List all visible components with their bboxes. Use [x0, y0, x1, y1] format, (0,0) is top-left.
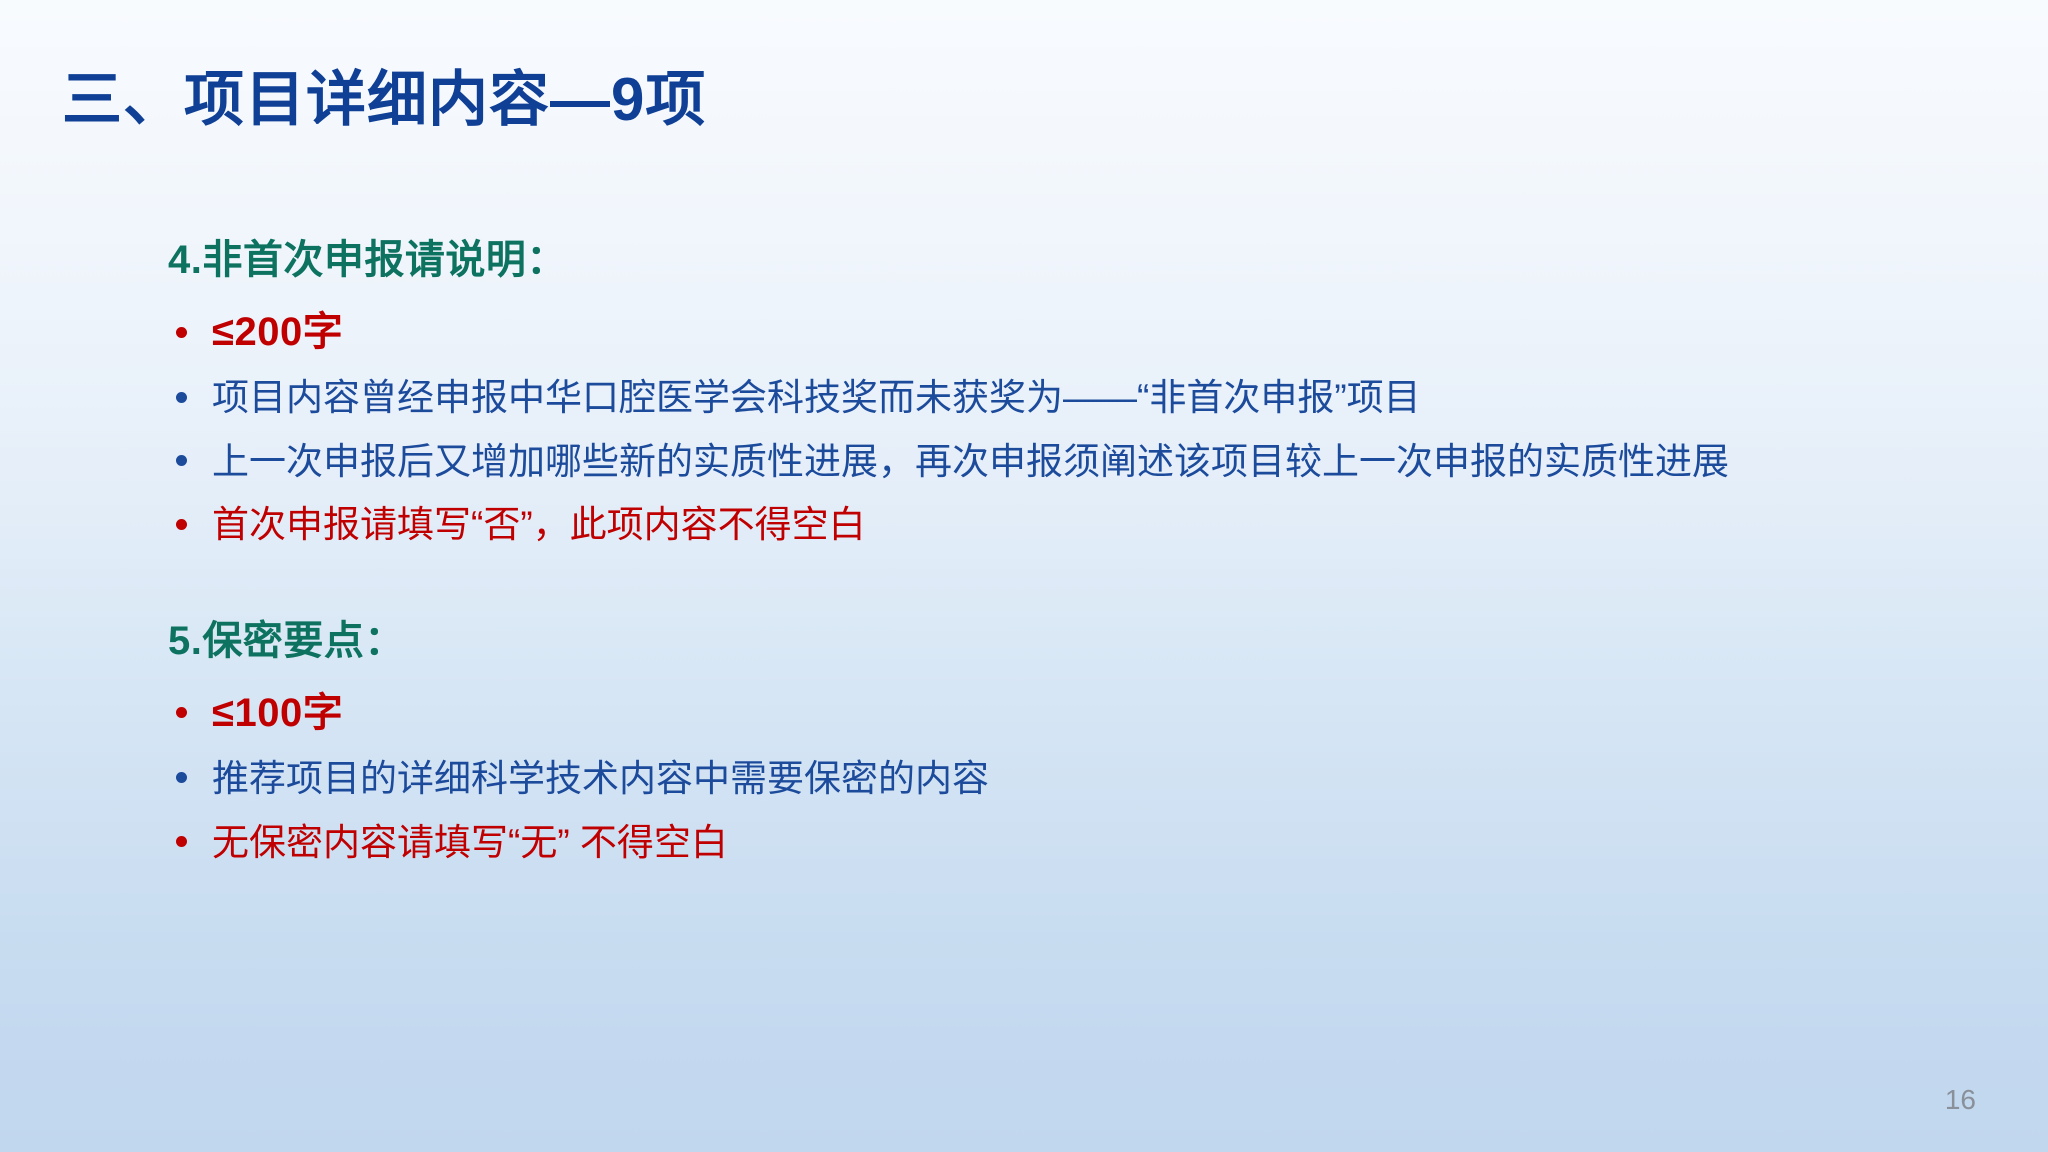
bullet-dot-icon: [168, 313, 212, 347]
bullet-dot-icon: [168, 759, 212, 793]
section-4: 4.非首次申报请说明： ≤200字 项目内容曾经申报中华口腔医学会科技奖而未获奖…: [168, 235, 2028, 552]
page-title: 三、项目详细内容—9项: [62, 66, 706, 133]
bullet-dot-icon: [168, 694, 212, 728]
section-heading-4: 4.非首次申报请说明：: [168, 235, 2028, 285]
page-number: 16: [1945, 1084, 1976, 1116]
bullet-text: 无保密内容请填写“无” 不得空白: [212, 816, 2028, 870]
bullet-text: ≤100字: [212, 684, 2028, 742]
list-item: 首次申报请填写“否”，此项内容不得空白: [168, 498, 2028, 552]
bullet-dot-icon: [168, 378, 212, 412]
bullet-text: 上一次申报后又增加哪些新的实质性进展，再次申报须阐述该项目较上一次申报的实质性进…: [212, 435, 2028, 489]
list-item: ≤100字: [168, 684, 2028, 742]
list-item: 无保密内容请填写“无” 不得空白: [168, 816, 2028, 870]
bullet-text: 推荐项目的详细科学技术内容中需要保密的内容: [212, 752, 2028, 806]
bullet-text: ≤200字: [212, 303, 2028, 361]
bullet-dot-icon: [168, 505, 212, 539]
section-heading-5: 5.保密要点：: [168, 616, 2028, 666]
section-5: 5.保密要点： ≤100字 推荐项目的详细科学技术内容中需要保密的内容 无保密内…: [168, 616, 2028, 869]
list-item: 项目内容曾经申报中华口腔医学会科技奖而未获奖为——“非首次申报”项目: [168, 371, 2028, 425]
list-item: 上一次申报后又增加哪些新的实质性进展，再次申报须阐述该项目较上一次申报的实质性进…: [168, 435, 2028, 489]
section-spacer: [168, 562, 2028, 616]
slide-body: 4.非首次申报请说明： ≤200字 项目内容曾经申报中华口腔医学会科技奖而未获奖…: [168, 235, 2028, 879]
bullet-text: 首次申报请填写“否”，此项内容不得空白: [212, 498, 2028, 552]
bullet-dot-icon: [168, 442, 212, 476]
bullet-text: 项目内容曾经申报中华口腔医学会科技奖而未获奖为——“非首次申报”项目: [212, 371, 2028, 425]
bullet-dot-icon: [168, 823, 212, 857]
list-item: ≤200字: [168, 303, 2028, 361]
slide-canvas: 三、项目详细内容—9项 4.非首次申报请说明： ≤200字 项目内容曾经申报中华…: [0, 0, 2048, 1152]
list-item: 推荐项目的详细科学技术内容中需要保密的内容: [168, 752, 2028, 806]
